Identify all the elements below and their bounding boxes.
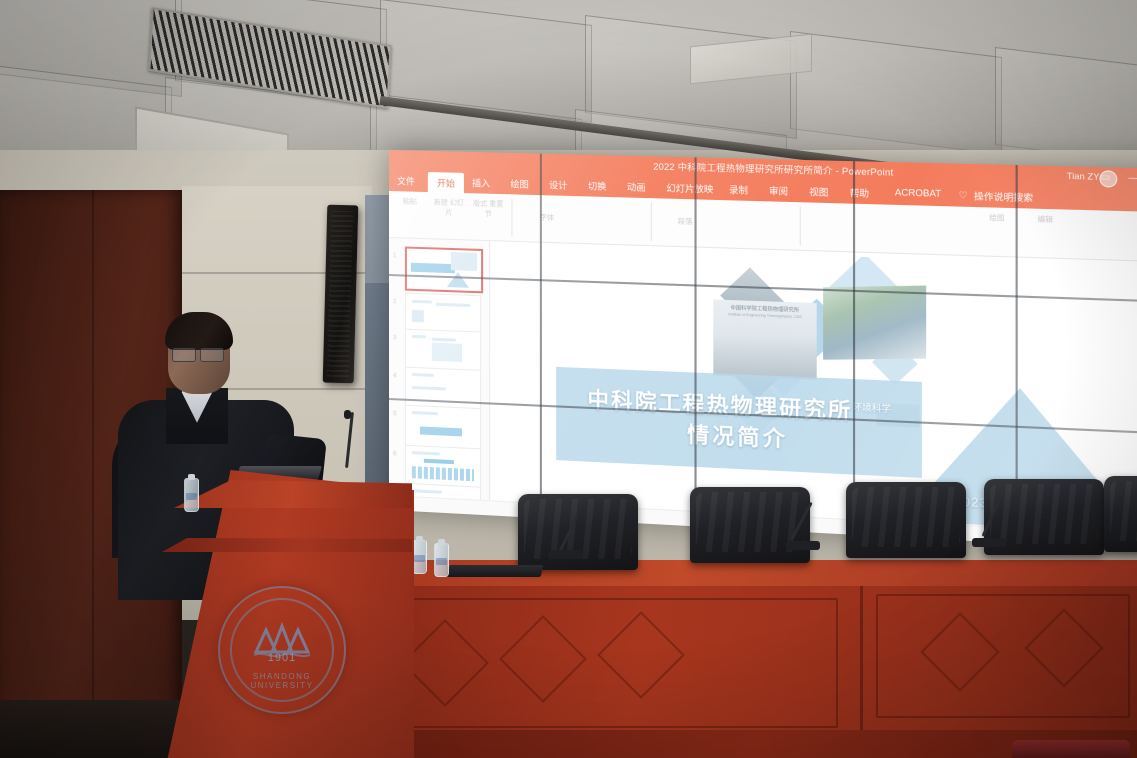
- slide-thumbnail-1[interactable]: [405, 247, 483, 294]
- conference-chair-3: [846, 482, 966, 558]
- slide-aerial-photo: [823, 286, 926, 360]
- slide-thumbnail-5[interactable]: [405, 405, 481, 451]
- slide-title-superscript: 环境科学: [852, 402, 891, 414]
- thumb-number-2: 2: [393, 298, 397, 305]
- table-microphone-1-base: [548, 550, 582, 559]
- tab-insert[interactable]: 插入: [472, 176, 490, 190]
- window-controls[interactable]: ▭ — ✕: [1101, 171, 1137, 184]
- ribbon-group-drawing[interactable]: 绘图: [978, 213, 1015, 224]
- ribbon-group-editing[interactable]: 编辑: [1027, 215, 1064, 226]
- water-bottle-table-2: [434, 543, 449, 577]
- thumb-number-1: 1: [393, 252, 397, 259]
- ribbon-group-paste[interactable]: 粘贴: [395, 197, 425, 208]
- audience-chair: [1012, 740, 1130, 758]
- tab-home[interactable]: 开始: [428, 172, 464, 194]
- document-title: 2022 中科院工程热物理研究所研究所简介 - PowerPoint: [653, 159, 893, 178]
- tab-animations[interactable]: 动画: [627, 180, 646, 194]
- emblem-year: 1901: [220, 652, 344, 664]
- ribbon-group-font[interactable]: 字体: [530, 213, 565, 224]
- tab-help[interactable]: 帮助: [850, 186, 869, 200]
- thumb-number-4: 4: [393, 372, 397, 379]
- podium-lip: [162, 538, 412, 552]
- photo-scene: 2022 中科院工程热物理研究所研究所简介 - PowerPoint Tian …: [0, 0, 1137, 758]
- table-keyboard: [447, 565, 544, 577]
- ribbon-group-newslide[interactable]: 新建 幻灯片: [431, 198, 467, 219]
- tab-file[interactable]: 文件: [397, 174, 415, 187]
- thumb-number-3: 3: [393, 334, 397, 341]
- ribbon-group-paragraph[interactable]: 段落: [667, 217, 702, 228]
- tab-review[interactable]: 审阅: [769, 184, 788, 198]
- tab-view[interactable]: 视图: [809, 185, 828, 199]
- conference-chair-5: [1104, 476, 1137, 552]
- ribbon-group-layout[interactable]: 版式 重置 节: [473, 199, 503, 220]
- tell-me-search[interactable]: 操作说明搜索: [974, 189, 1033, 204]
- column-loudspeaker-icon: [323, 205, 359, 384]
- university-emblem: 1901 SHANDONG UNIVERSITY: [218, 586, 346, 714]
- tab-design[interactable]: 设计: [549, 178, 567, 192]
- emblem-university-name: SHANDONG UNIVERSITY: [220, 672, 344, 690]
- lightbulb-icon[interactable]: ♡: [959, 190, 968, 202]
- table-microphone-3-base: [972, 538, 1006, 547]
- tab-acrobat[interactable]: ACROBAT: [895, 187, 941, 199]
- user-name[interactable]: Tian ZY: [1067, 170, 1100, 181]
- glasses-icon: [172, 348, 228, 360]
- water-bottle-table-1: [412, 540, 427, 574]
- water-bottle-podium: [184, 478, 199, 512]
- tab-draw[interactable]: 绘图: [510, 177, 528, 191]
- tab-record[interactable]: 录制: [729, 183, 748, 197]
- table-microphone-2-base: [786, 541, 820, 550]
- thumb-number-5: 5: [393, 410, 397, 417]
- thumb-number-6: 6: [393, 450, 397, 457]
- conference-chair-2: [690, 487, 810, 563]
- podium-microphone-head: [344, 410, 351, 419]
- tab-slideshow[interactable]: 幻灯片放映: [666, 181, 713, 196]
- slide-thumbnail-pane[interactable]: 1 2 3 4: [389, 238, 490, 515]
- tab-transitions[interactable]: 切换: [588, 179, 607, 193]
